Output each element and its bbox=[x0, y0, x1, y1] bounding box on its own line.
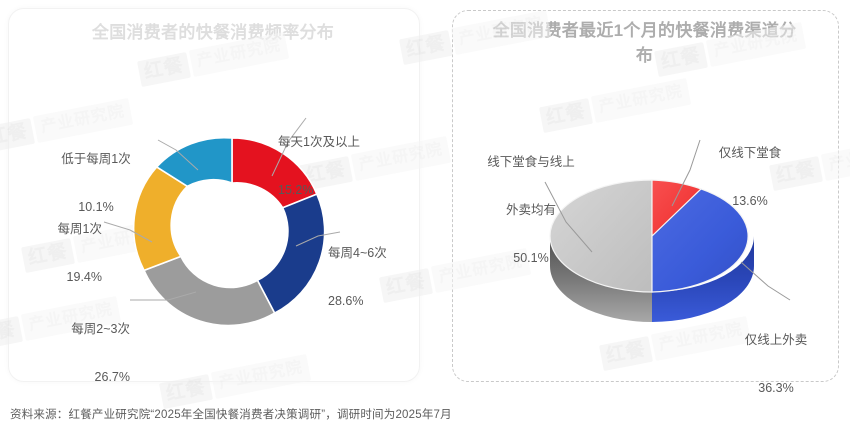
pie-label-both-channels-line2: 外卖均有 bbox=[470, 202, 592, 218]
donut-label-less-than-weekly: 低于每周1次 10.1% bbox=[40, 119, 152, 247]
pie-label-dinein-only: 仅线下堂食 13.6% bbox=[702, 113, 798, 241]
donut-label-2to3-weekly-name: 每周2~3次 bbox=[20, 321, 130, 337]
pie-label-dinein-only-name: 仅线下堂食 bbox=[702, 145, 798, 161]
donut-label-less-than-weekly-value: 10.1% bbox=[40, 199, 152, 215]
donut-label-4to6-weekly: 每周4~6次 28.6% bbox=[328, 213, 387, 341]
pie-label-dinein-only-value: 13.6% bbox=[702, 193, 798, 209]
pie-label-online-only: 仅线上外卖 36.3% bbox=[728, 300, 824, 428]
pie-label-online-only-name: 仅线上外卖 bbox=[728, 332, 824, 348]
donut-label-less-than-weekly-name: 低于每周1次 bbox=[40, 151, 152, 167]
pie-label-online-only-value: 36.3% bbox=[728, 380, 824, 396]
pie-label-both-channels-line1: 线下堂食与线上 bbox=[470, 154, 592, 170]
donut-label-daily-name: 每天1次及以上 bbox=[278, 134, 360, 150]
pie-label-both-channels-value: 50.1% bbox=[470, 250, 592, 266]
donut-label-2to3-weekly-value: 26.7% bbox=[20, 369, 130, 385]
donut-label-4to6-weekly-name: 每周4~6次 bbox=[328, 245, 387, 261]
source-note: 资料来源：红餐产业研究院“2025年全国快餐消费者决策调研”，调研时间为2025… bbox=[10, 406, 452, 422]
donut-label-daily-value: 15.2% bbox=[278, 182, 360, 198]
donut-label-daily: 每天1次及以上 15.2% bbox=[278, 102, 360, 230]
donut-label-4to6-weekly-value: 28.6% bbox=[328, 293, 387, 309]
pie-label-both-channels: 线下堂食与线上 外卖均有 50.1% bbox=[470, 122, 592, 298]
infographic-root: 红餐 产业研究院 红餐 产业研究院 红餐 产业研究院 红餐 产业研究院 红餐 产… bbox=[0, 0, 850, 432]
donut-label-weekly-once-value: 19.4% bbox=[10, 269, 102, 285]
